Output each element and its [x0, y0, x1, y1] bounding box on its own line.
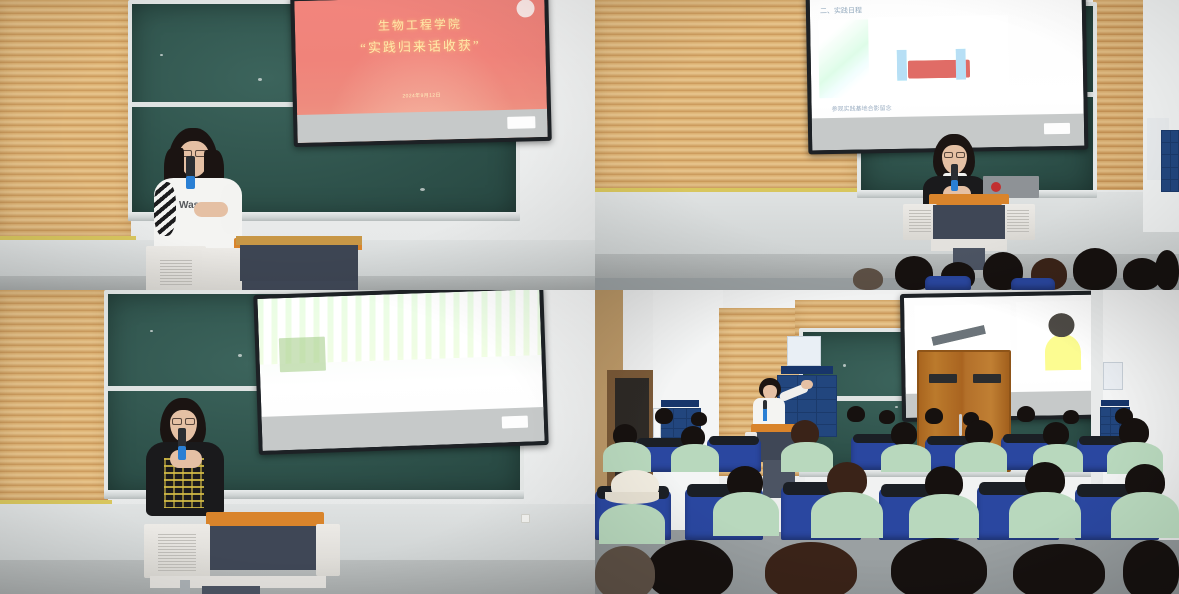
glasses-icon: [172, 418, 182, 425]
slide-photo: 2024年“三下乡”社会实践活动: [257, 290, 544, 451]
projector-screen: 二、实践日程 参观实践基地合影留念: [806, 0, 1089, 154]
microphone: [178, 428, 186, 448]
laptop-sticker: [991, 182, 1001, 192]
glasses-icon: [944, 152, 953, 158]
presenter-person: [140, 398, 236, 524]
wood-wall: [0, 0, 131, 238]
projector-screen: 2024年“三下乡”社会实践活动: [253, 290, 548, 455]
wall-switch: [521, 514, 530, 523]
wood-wall: [0, 290, 108, 503]
glasses-icon: [956, 152, 965, 158]
panel-bottom-right-overlay: [595, 290, 1179, 594]
slide-caption: 参观实践基地合影留念: [832, 103, 892, 113]
panel-bottom-left: 2024年“三下乡”社会实践活动: [0, 290, 595, 594]
glasses-icon: [185, 418, 195, 425]
microphone: [186, 156, 195, 178]
projector-screen: 生物工程学院 “实践归来话收获” 2024年9月12日: [290, 0, 552, 147]
slide-photo: 二、实践日程 参观实践基地合影留念: [810, 0, 1085, 150]
panel-top-right: 二、实践日程 参观实践基地合影留念: [595, 0, 1179, 290]
slide-heading: 二、实践日程: [820, 5, 862, 16]
podium: [130, 512, 340, 594]
panel-top-left: 生物工程学院 “实践归来话收获” 2024年9月12日: [0, 0, 595, 290]
photo-collage: 生物工程学院 “实践归来话收获” 2024年9月12日: [0, 0, 1179, 594]
